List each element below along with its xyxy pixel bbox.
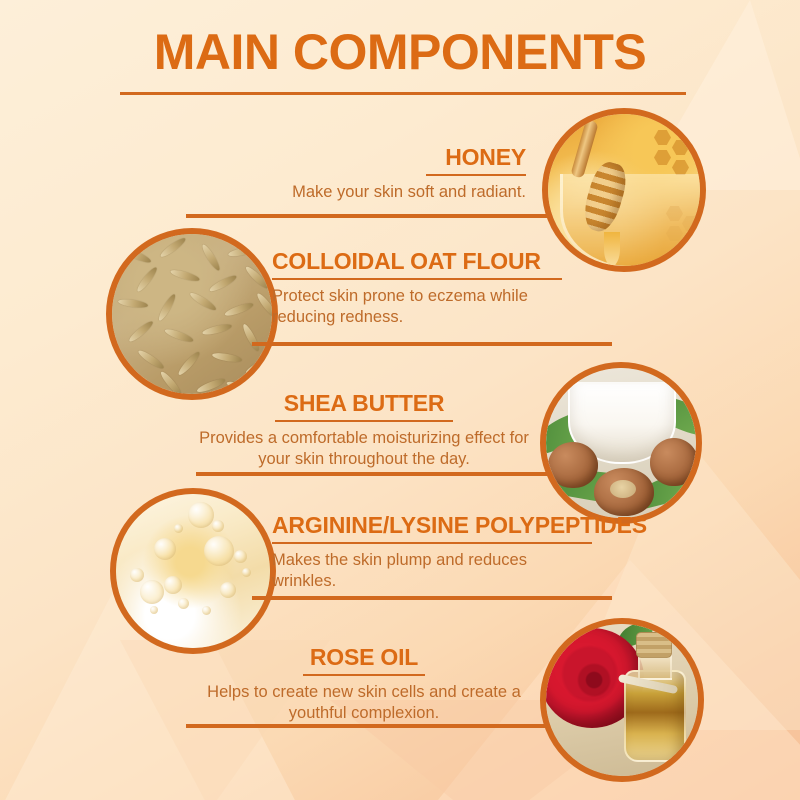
heading-divider-shea-butter [275,420,453,422]
component-shea-butter-text: SHEA BUTTER Provides a comfortable moist… [196,390,532,470]
infographic-poster: MAIN COMPONENTS HONEY Make your skin sof… [0,0,800,800]
component-colloidal-oat-flour-text: COLLOIDAL OAT FLOUR Protect skin prone t… [272,248,612,328]
component-description-rose-oil: Helps to create new skin cells and creat… [196,682,532,724]
component-arginine-lysine-polypeptides-text: ARGININE/LYSINE POLYPEPTIDES Makes the s… [272,512,612,592]
page-title: MAIN COMPONENTS [0,24,800,80]
component-heading-colloidal-oat-flour: COLLOIDAL OAT FLOUR [272,248,612,275]
block-divider-rose-oil [186,724,582,728]
component-heading-rose-oil: ROSE OIL [196,644,532,671]
heading-divider-arginine-lysine-polypeptides [272,542,592,544]
block-divider-colloidal-oat-flour [252,342,612,346]
component-rose-oil-text: ROSE OIL Helps to create new skin cells … [196,644,532,724]
heading-divider-colloidal-oat-flour [272,278,562,280]
component-image-arginine-lysine-polypeptides [110,488,276,654]
component-description-shea-butter: Provides a comfortable moisturizing effe… [196,428,532,470]
component-heading-shea-butter: SHEA BUTTER [196,390,532,417]
block-divider-shea-butter [196,472,586,476]
component-description-colloidal-oat-flour: Protect skin prone to eczema while reduc… [272,286,592,328]
block-divider-honey [186,214,586,218]
component-image-shea-butter [540,362,702,524]
component-image-rose-oil [540,618,704,782]
component-heading-honey: HONEY [186,144,526,171]
component-description-honey: Make your skin soft and radiant. [186,182,526,203]
block-divider-arginine-lysine-polypeptides [252,596,612,600]
component-description-arginine-lysine-polypeptides: Makes the skin plump and reduces wrinkle… [272,550,582,592]
heading-divider-rose-oil [303,674,425,676]
component-honey-text: HONEY Make your skin soft and radiant. [186,144,526,203]
component-heading-arginine-lysine-polypeptides: ARGININE/LYSINE POLYPEPTIDES [272,512,612,539]
title-divider [120,92,686,95]
heading-divider-honey [426,174,526,176]
component-image-colloidal-oat-flour [106,228,278,400]
